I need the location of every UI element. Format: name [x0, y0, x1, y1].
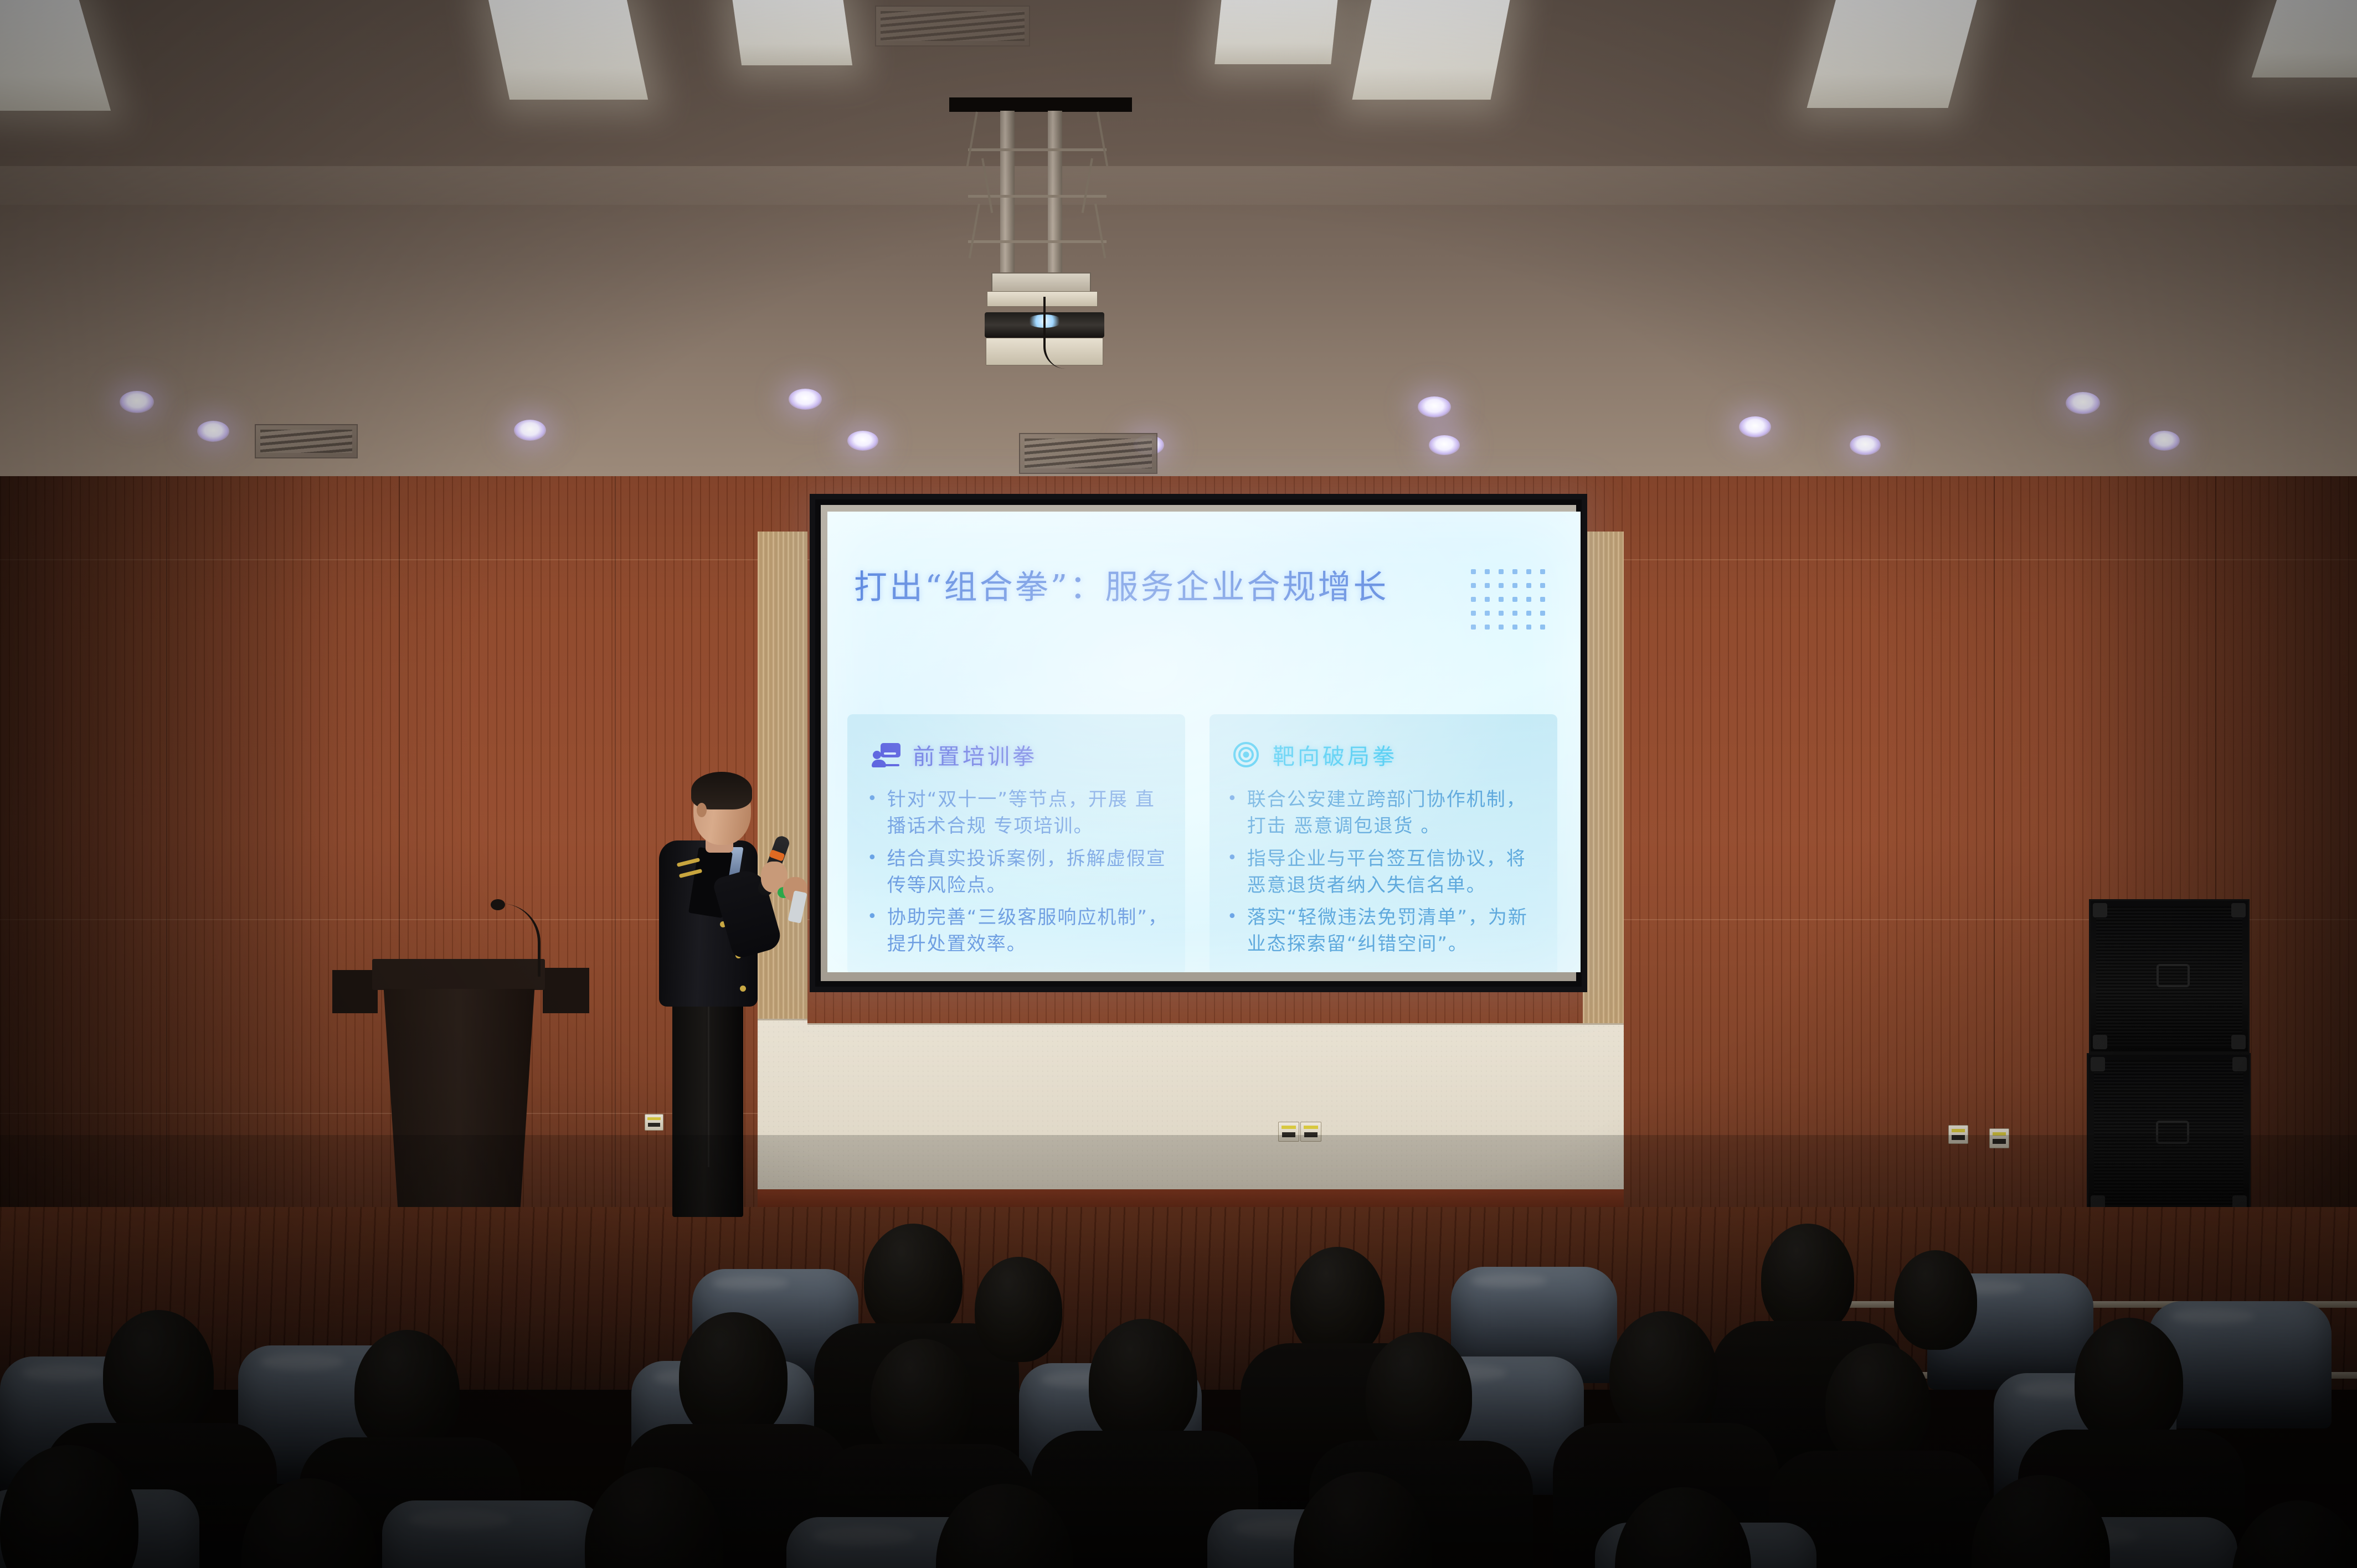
audience-head	[2232, 1500, 2357, 1568]
card-bullet-list: • 联合公安建立跨部门协作机制，打击 恶意调包退货 。 • 指导企业与平台签互信…	[1227, 786, 1541, 963]
slide-title: 打出“组合拳”：服务企业合规增长	[854, 560, 1388, 608]
slide-card-training: 前置培训拳 • 针对“双十一”等节点，开展 直播话术合规 专项培训。 • 结合真…	[847, 714, 1185, 972]
auditorium-seat	[382, 1500, 604, 1568]
dot	[1540, 625, 1545, 630]
dot	[1512, 597, 1517, 602]
audience-head	[103, 1310, 214, 1441]
uniform-button	[740, 986, 746, 992]
ceiling-downlight	[2149, 431, 2180, 451]
list-item: • 针对“双十一”等节点，开展 直播话术合规 专项培训。	[867, 786, 1170, 840]
ceiling-downlight	[2066, 392, 2100, 414]
slide-card-targeted: 靶向破局拳 • 联合公安建立跨部门协作机制，打击 恶意调包退货 。 • 指导企业…	[1210, 714, 1557, 972]
dot	[1471, 611, 1476, 616]
audience-head	[2075, 1318, 2183, 1446]
audience-head	[975, 1257, 1062, 1362]
dot	[1485, 625, 1490, 630]
audience-head	[1894, 1250, 1977, 1350]
dot	[1540, 583, 1545, 588]
ceiling-downlight	[1850, 435, 1881, 455]
bullet-text: 协助完善“三级客服响应机制”，提升处置效率。	[887, 904, 1170, 958]
speaker-corner	[2231, 903, 2246, 917]
projector-mount-plate	[991, 272, 1091, 292]
audience-head	[354, 1330, 460, 1454]
dot	[1499, 597, 1504, 602]
audience-head	[1366, 1332, 1472, 1457]
dot	[1471, 625, 1476, 630]
ceiling-air-vent	[255, 424, 358, 458]
bullet-marker: •	[1227, 845, 1238, 899]
lift-scissor-arm	[1097, 112, 1108, 167]
dot	[1526, 611, 1531, 616]
slide-canvas: 打出“组合拳”：服务企业合规增长	[827, 512, 1581, 972]
dot	[1485, 597, 1490, 602]
dot	[1471, 583, 1476, 588]
bullet-text: 联合公安建立跨部门协作机制，打击 恶意调包退货 。	[1247, 786, 1541, 840]
projector-cable	[1043, 297, 1077, 369]
speaker-corner	[2093, 1035, 2107, 1049]
bullet-marker: •	[867, 845, 878, 899]
presenter-ear	[697, 803, 707, 817]
lift-scissor-arm	[966, 112, 978, 167]
dot-grid-decoration	[1471, 569, 1545, 630]
speaker-corner	[2093, 903, 2107, 917]
dot	[1485, 611, 1490, 616]
lift-scissor-arm	[1094, 204, 1106, 259]
wood-batten-right	[1583, 532, 1624, 1023]
lift-scissor-arm	[969, 204, 980, 259]
speaker-cabinet-top	[2089, 899, 2250, 1053]
card-header: 前置培训拳	[872, 739, 1037, 771]
speaker-corner	[2231, 1035, 2246, 1049]
card-bullet-list: • 针对“双十一”等节点，开展 直播话术合规 专项培训。 • 结合真实投诉案例，…	[867, 786, 1170, 963]
dot	[1485, 569, 1490, 574]
dot	[1512, 583, 1517, 588]
bullet-text: 指导企业与平台签互信协议，将恶意退货者纳入失信名单。	[1247, 845, 1541, 899]
ceiling-downlight	[1418, 396, 1451, 417]
dot	[1499, 611, 1504, 616]
lift-crossbar	[968, 148, 1107, 151]
dot	[1540, 569, 1545, 574]
ceiling-troffer	[732, 0, 852, 65]
bullet-marker: •	[1227, 904, 1238, 958]
lift-crossbar	[968, 240, 1107, 243]
audience-head	[1290, 1247, 1385, 1358]
dot	[1540, 611, 1545, 616]
list-item: • 指导企业与平台签互信协议，将恶意退货者纳入失信名单。	[1227, 845, 1541, 899]
auditorium-presentation-scene: 打出“组合拳”：服务企业合规增长	[0, 0, 2357, 1568]
ceiling-downlight	[789, 389, 822, 410]
dot	[1526, 597, 1531, 602]
audience-head	[864, 1224, 963, 1339]
dot	[1540, 597, 1545, 602]
audience-head	[679, 1312, 788, 1441]
audience-head	[1761, 1224, 1854, 1334]
ceiling-lift-slot	[949, 97, 1132, 112]
list-item: • 结合真实投诉案例，拆解虚假宣传等风险点。	[867, 845, 1170, 899]
dot	[1499, 569, 1504, 574]
lift-scissor-arm	[1082, 158, 1093, 213]
audience-head	[1825, 1343, 1931, 1467]
ceiling-troffer	[1214, 0, 1338, 64]
ceiling-downlight	[1739, 416, 1771, 437]
dot	[1471, 569, 1476, 574]
bullet-marker: •	[1227, 786, 1238, 840]
lift-scissor-arm	[981, 158, 993, 213]
projection-screen: 打出“组合拳”：服务企业合规增长	[810, 494, 1587, 992]
ceiling-downlight	[847, 431, 878, 451]
lectern-wing-right	[543, 968, 589, 1013]
ceiling-downlight	[1429, 435, 1460, 455]
wall-shadow	[0, 476, 343, 1229]
speaker-corner	[2091, 1057, 2105, 1071]
audience-head	[871, 1339, 974, 1461]
speaker-handle	[2157, 964, 2190, 987]
wall-seam	[615, 476, 616, 1207]
dot	[1499, 583, 1504, 588]
ceiling-air-vent	[875, 6, 1030, 47]
ceiling-downlight	[197, 421, 229, 442]
bullet-text: 落实“轻微违法免罚清单”，为新业态探索留“纠错空间”。	[1247, 904, 1541, 958]
ceiling-band	[0, 166, 2357, 205]
lift-rail	[1048, 111, 1062, 277]
dot	[1499, 625, 1504, 630]
audience-head	[1609, 1311, 1718, 1440]
target-bullseye-icon	[1232, 742, 1260, 767]
dot	[1526, 583, 1531, 588]
dot	[1526, 569, 1531, 574]
dot	[1485, 583, 1490, 588]
projector-lift	[949, 97, 1132, 391]
bullet-text: 针对“双十一”等节点，开展 直播话术合规 专项培训。	[887, 786, 1170, 840]
dot	[1512, 625, 1517, 630]
list-item: • 落实“轻微违法免罚清单”，为新业态探索留“纠错空间”。	[1227, 904, 1541, 958]
speaker-corner	[2232, 1057, 2247, 1071]
ceiling	[0, 0, 2357, 476]
ceiling-air-vent	[1019, 433, 1157, 474]
training-presentation-icon	[872, 742, 900, 767]
ceiling-troffer	[1352, 0, 1511, 100]
dot	[1512, 611, 1517, 616]
list-item: • 协助完善“三级客服响应机制”，提升处置效率。	[867, 904, 1170, 958]
microphone-icon	[491, 899, 505, 910]
ceiling-downlight	[120, 391, 154, 413]
card-heading: 靶向破局拳	[1273, 739, 1397, 771]
dot	[1512, 569, 1517, 574]
card-heading: 前置培训拳	[913, 739, 1037, 771]
bullet-text: 结合真实投诉案例，拆解虚假宣传等风险点。	[887, 845, 1170, 899]
lectern-wing-left	[332, 970, 378, 1013]
ceiling-troffer	[487, 0, 648, 100]
card-header: 靶向破局拳	[1232, 739, 1397, 771]
audience-head	[1089, 1319, 1197, 1447]
dot	[1471, 597, 1476, 602]
audience-seating	[0, 1135, 2357, 1568]
lift-rail	[1000, 111, 1015, 277]
dot	[1526, 625, 1531, 630]
ceiling-downlight	[514, 420, 546, 441]
bullet-marker: •	[867, 786, 878, 840]
bullet-marker: •	[867, 904, 878, 958]
list-item: • 联合公安建立跨部门协作机制，打击 恶意调包退货 。	[1227, 786, 1541, 840]
projector-upper-panel	[987, 291, 1098, 307]
wall-seam	[1994, 476, 1995, 1207]
